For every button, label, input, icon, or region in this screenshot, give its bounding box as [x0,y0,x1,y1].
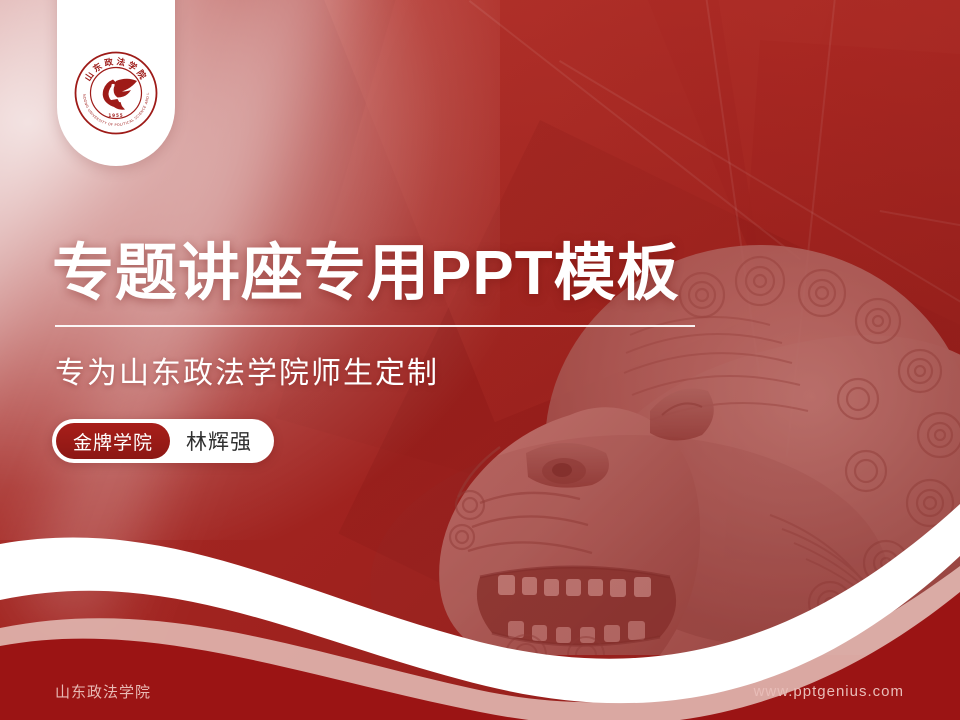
presenter-badge[interactable]: 金牌学院 林辉强 [52,419,274,463]
page-subtitle: 专为山东政法学院师生定制 [55,348,439,392]
title-divider [55,325,695,327]
page-title: 专题讲座专用PPT模板 [52,240,680,308]
presenter-name: 林辉强 [186,426,252,456]
footer-website[interactable]: www.pptgenius.com [754,662,904,720]
badge-tag-label: 金牌学院 [56,423,170,459]
footer-organization: 山东政法学院 [55,662,151,720]
university-seal-icon: 山东政法学院 SHANDONG UNIVERSITY OF POLITICAL … [71,48,161,138]
svg-text:1955: 1955 [108,113,123,118]
presentation-cover-slide: 山东政法学院 SHANDONG UNIVERSITY OF POLITICAL … [0,0,960,720]
